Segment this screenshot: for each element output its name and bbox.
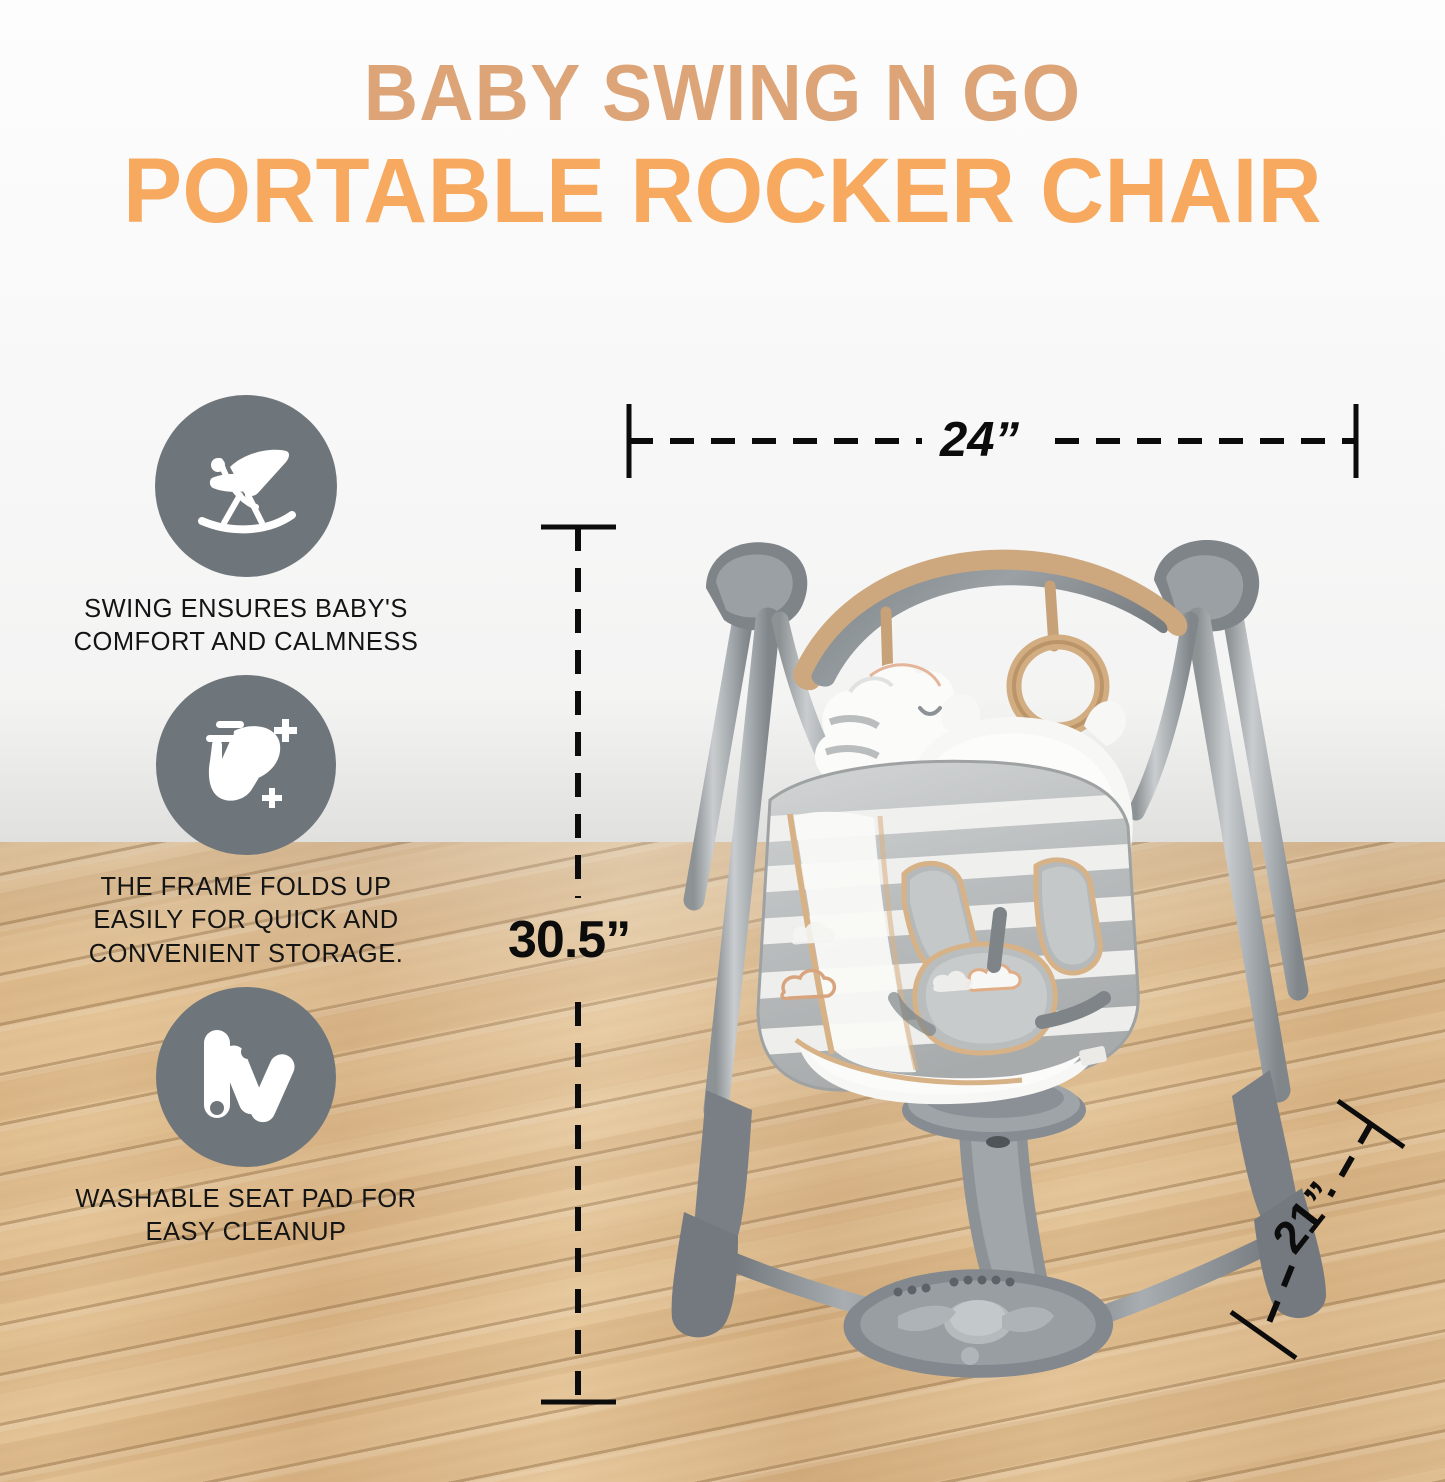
header: BABY SWING N GO PORTABLE ROCKER CHAIR xyxy=(0,52,1445,239)
title-line-1: BABY SWING N GO xyxy=(43,52,1401,134)
feature-item-swing-comfort: SWING ENSURES BABY'S COMFORT AND CALMNES… xyxy=(0,395,492,659)
baby-rocker-icon xyxy=(155,395,337,577)
feature-icon-wrap xyxy=(0,675,492,855)
feature-text: THE FRAME FOLDS UP EASILY FOR QUICK AND … xyxy=(0,871,492,970)
feature-item-folds-up: THE FRAME FOLDS UP EASILY FOR QUICK AND … xyxy=(0,675,492,970)
product-image-baby-swing xyxy=(598,470,1388,1420)
feature-text: WASHABLE SEAT PAD FOR EASY CLEANUP xyxy=(0,1183,492,1249)
feature-text: SWING ENSURES BABY'S COMFORT AND CALMNES… xyxy=(0,593,492,659)
infographic-canvas: BABY SWING N GO PORTABLE ROCKER CHAIR xyxy=(0,0,1445,1445)
wiping-hand-sparkle-icon xyxy=(156,675,336,855)
folding-hinge-icon xyxy=(156,987,336,1167)
title-line-2: PORTABLE ROCKER CHAIR xyxy=(29,144,1416,240)
feature-icon-wrap xyxy=(0,987,492,1167)
feature-icon-wrap xyxy=(0,395,492,577)
feature-list: SWING ENSURES BABY'S COMFORT AND CALMNES… xyxy=(0,395,492,1265)
feature-item-washable-pad: WASHABLE SEAT PAD FOR EASY CLEANUP xyxy=(0,987,492,1249)
